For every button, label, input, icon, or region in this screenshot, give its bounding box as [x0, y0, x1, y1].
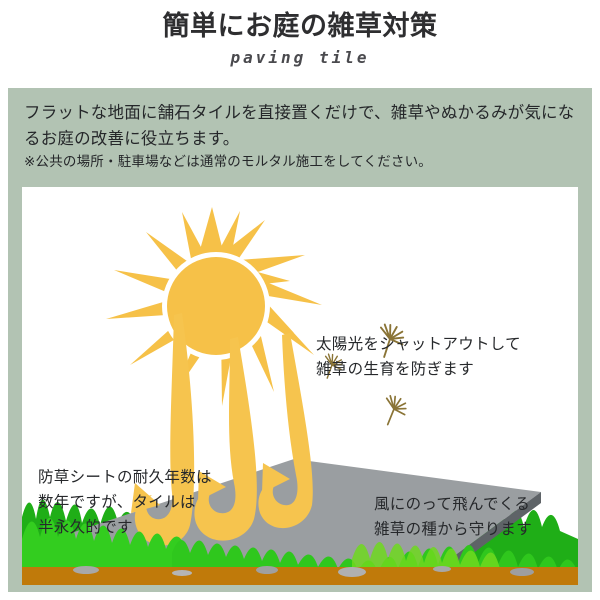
soil-strip	[22, 566, 578, 585]
illustration-card: 太陽光をシャットアウトして 雑草の生育を防ぎます 防草シートの耐久年数は 数年で…	[22, 187, 578, 585]
paving-tile-infographic: 簡単にお庭の雑草対策 paving tile フラットな地面に舗石タイルを直接置…	[0, 0, 600, 600]
header: 簡単にお庭の雑草対策 paving tile	[0, 0, 600, 88]
page-subtitle: paving tile	[0, 48, 600, 68]
content-panel: フラットな地面に舗石タイルを直接置くだけで、雑草やぬかるみが気になるお庭の改善に…	[8, 88, 592, 592]
note-paragraph: ※公共の場所・駐車場などは通常のモルタル施工をしてください。	[24, 152, 576, 172]
lead-paragraph: フラットな地面に舗石タイルを直接置くだけで、雑草やぬかるみが気になるお庭の改善に…	[24, 100, 576, 152]
page-title: 簡単にお庭の雑草対策	[0, 9, 600, 43]
callout-sunlight: 太陽光をシャットアウトして 雑草の生育を防ぎます	[316, 332, 521, 382]
callout-sheet-durability: 防草シートの耐久年数は 数年ですが、タイルは 半永久的です	[38, 465, 212, 540]
callout-wind-seeds: 風にのって飛んでくる 雑草の種から守ります	[374, 492, 532, 542]
